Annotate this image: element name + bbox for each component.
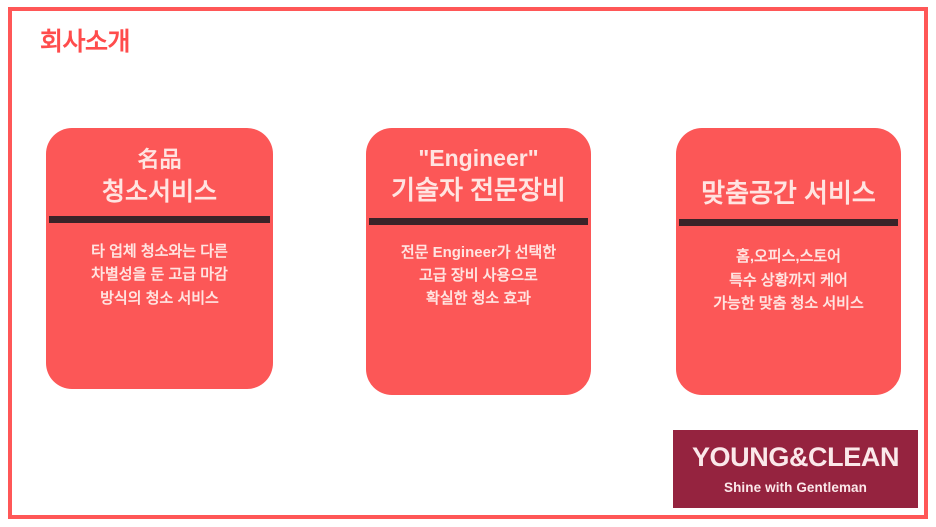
card-3-heading: 맞춤공간 서비스 (676, 128, 901, 210)
card-3-body-line-2: 특수 상황까지 케어 (684, 269, 893, 292)
card-2-heading-line-1: "Engineer" (376, 144, 581, 173)
card-2-body-line-1: 전문 Engineer가 선택한 (374, 241, 583, 264)
card-1-heading: 名品 청소서비스 (46, 128, 273, 208)
card-2-body-line-2: 고급 장비 사용으로 (374, 264, 583, 287)
card-3-body-line-1: 홈,오피스,스토어 (684, 245, 893, 268)
card-1-heading-line-1: 名品 (56, 146, 263, 174)
card-1-body-line-1: 타 업체 청소와는 다른 (54, 240, 265, 263)
card-2-divider (369, 218, 588, 225)
card-2-body-line-3: 확실한 청소 효과 (374, 287, 583, 310)
card-1-divider (49, 216, 270, 223)
logo-company-name: YOUNG&CLEAN (692, 443, 899, 473)
card-1-heading-line-2: 청소서비스 (56, 176, 263, 208)
card-3-body-line-3: 가능한 맞춤 청소 서비스 (684, 292, 893, 315)
card-1-body: 타 업체 청소와는 다른 차별성을 둔 고급 마감 방식의 청소 서비스 (46, 240, 273, 310)
card-3-divider (679, 219, 898, 226)
card-1-body-line-2: 차별성을 둔 고급 마감 (54, 263, 265, 286)
page-title: 회사소개 (40, 27, 130, 57)
card-2-heading: "Engineer" 기술자 전문장비 (366, 128, 591, 208)
card-2-heading-line-2: 기술자 전문장비 (376, 174, 581, 207)
slide-canvas: 회사소개 名品 청소서비스 타 업체 청소와는 다른 차별성을 둔 고급 마감 … (0, 0, 936, 527)
service-card-3[interactable]: 맞춤공간 서비스 홈,오피스,스토어 특수 상황까지 케어 가능한 맞춤 청소 … (676, 128, 901, 395)
card-1-body-line-3: 방식의 청소 서비스 (54, 287, 265, 310)
card-2-body: 전문 Engineer가 선택한 고급 장비 사용으로 확실한 청소 효과 (366, 241, 591, 311)
service-card-2[interactable]: "Engineer" 기술자 전문장비 전문 Engineer가 선택한 고급 … (366, 128, 591, 395)
company-logo: YOUNG&CLEAN Shine with Gentleman (673, 430, 918, 508)
card-3-heading-line-1: 맞춤공간 서비스 (686, 177, 891, 210)
logo-tagline: Shine with Gentleman (724, 480, 867, 495)
service-card-1[interactable]: 名品 청소서비스 타 업체 청소와는 다른 차별성을 둔 고급 마감 방식의 청… (46, 128, 273, 389)
card-3-body: 홈,오피스,스토어 특수 상황까지 케어 가능한 맞춤 청소 서비스 (676, 245, 901, 315)
